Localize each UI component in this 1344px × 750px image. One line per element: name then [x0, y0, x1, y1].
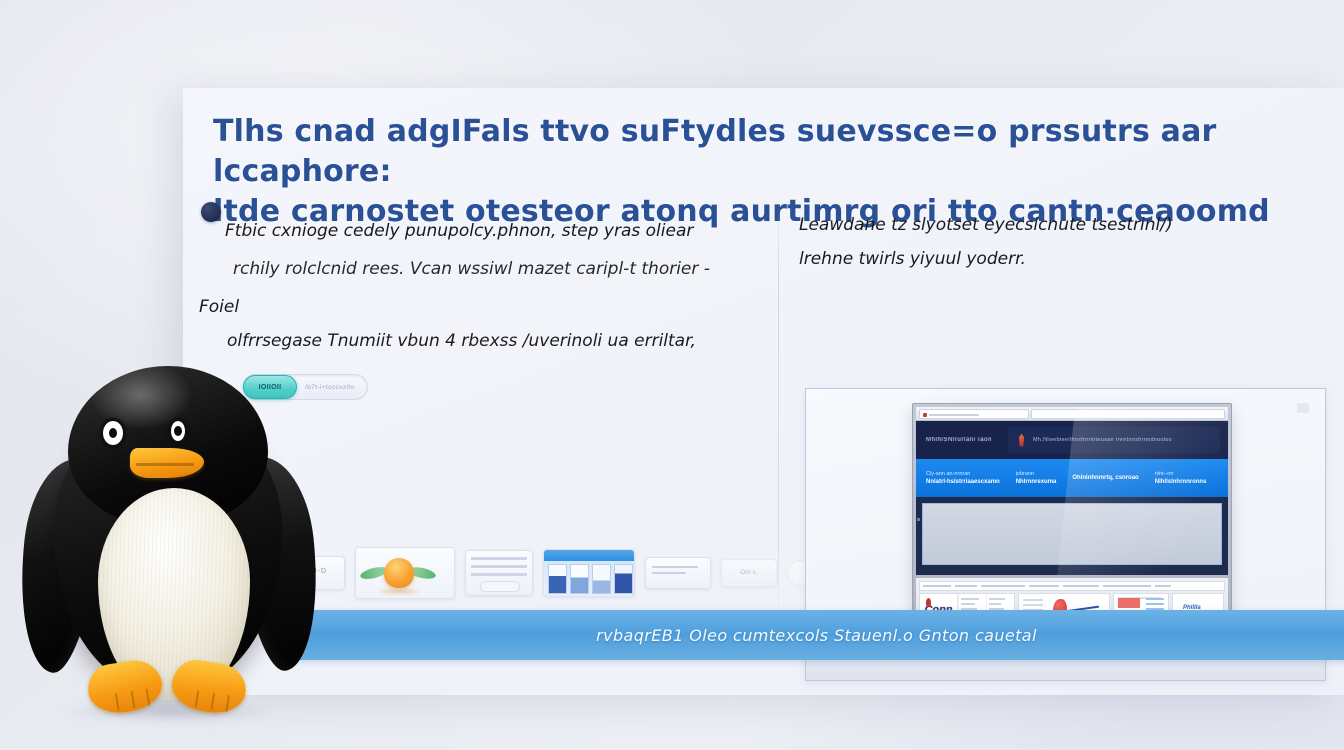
left-paragraph-line-2: rchily rolclcnid rees. Vcan wssiwl mazet…	[215, 250, 771, 288]
card-pill-shape	[480, 581, 520, 592]
card-thumb-faint[interactable]: Оm x,	[721, 559, 777, 587]
corner-marker-icon	[1297, 403, 1309, 413]
card-thumb-blank[interactable]	[645, 557, 711, 589]
nav-item-3[interactable]: Ohlnlnhnmrtq, csnroao	[1072, 474, 1138, 482]
browser-tab-2[interactable]	[1031, 409, 1225, 419]
left-paragraph: Ftbic cxnioge cedely punupolcy.phnon, st…	[215, 212, 771, 326]
bottom-banner: rvbaqrEB1 Oleo cumtexcols Stauenl.o Gnto…	[283, 610, 1344, 660]
tux-penguin-mascot	[20, 360, 320, 730]
left-paragraph-line-1: Ftbic cxnioge cedely punupolcy.phnon, st…	[215, 212, 771, 250]
site-header: MhlhlSNlrurlani Iaon Mh,Nlwebteeilhnsfrn…	[916, 421, 1228, 459]
right-paragraph-line-2: lrehne twirls yiyuul yodеrr.	[799, 242, 1319, 276]
alert-icon	[1016, 434, 1027, 447]
card-lines-strip	[471, 557, 527, 581]
headline-line-1: Tlhs cnad adgIFals ttvo suFtydles suevss…	[213, 114, 1217, 189]
content-heading-bar	[923, 518, 1221, 521]
right-column: Leawdane tz slyotset eyecsicnute tsestri…	[795, 196, 1335, 626]
nav-item-2[interactable]: jobrann Nhlrnnrexuma	[1016, 470, 1057, 486]
favicon-icon	[923, 413, 927, 417]
slide-panel: Tlhs cnad adgIFals ttvo suFtydles suevss…	[183, 88, 1344, 695]
left-paragraph-2: olfrrsegase Tnumiit vbun 4 rbexss /uveri…	[227, 328, 783, 354]
browser-tab-bar[interactable]	[916, 407, 1228, 421]
site-alert-text: Mh,Nlwebteeilhnsfrnrloteusan rnretnnshrn…	[1033, 437, 1172, 443]
bottom-banner-text: rvbaqrEB1 Oleo cumtexcols Stauenl.o Gnto…	[596, 626, 1037, 645]
browser-tab-1[interactable]	[919, 409, 1029, 419]
site-nav-band[interactable]: Cly-ann an-nrnran Nnlatrl-hslstrriaaescx…	[916, 459, 1228, 497]
flower-icon	[384, 558, 414, 588]
card-thumb-flower[interactable]	[355, 547, 455, 599]
monitor-graphic: MhlhlSNlrurlani Iaon Mh,Nlwebteeilhnsfrn…	[912, 403, 1232, 631]
right-paragraph: Leawdane tz slyotset eyecsicnute tsestri…	[799, 208, 1319, 276]
site-brand: MhlhlSNlrurlani Iaon	[916, 437, 1008, 443]
card-thumb-lines[interactable]	[465, 550, 533, 596]
mini-thumbnail-grid	[548, 564, 633, 594]
monitor-screen: MhlhlSNlrurlani Iaon Mh,Nlwebteeilhnsfrn…	[916, 407, 1228, 575]
right-paragraph-line-1: Leawdane tz slyotset eyecsicnute tsestri…	[799, 208, 1319, 242]
red-chart-block	[1118, 598, 1140, 608]
toolbar-strip[interactable]	[919, 581, 1225, 591]
penguin-eye-right	[168, 418, 188, 444]
site-alert-banner: Mh,Nlwebteeilhnsfrnrloteusan rnretnnshrn…	[1008, 427, 1220, 453]
penguin-eye-left	[100, 418, 126, 448]
card-thumb-faint-text: Оm x,	[722, 569, 776, 576]
card-blank-lines	[652, 566, 704, 578]
nav-item-1[interactable]: Cly-ann an-nrnran Nnlatrl-hslstrriaaescx…	[926, 470, 1000, 486]
site-content-pane	[922, 503, 1222, 565]
left-paragraph-line-3: Foiel	[215, 288, 771, 326]
nav-item-4[interactable]: nlnt--nn Nlhllslnhrnnronns	[1155, 470, 1207, 486]
card-thumb-grid[interactable]	[543, 549, 635, 597]
flower-shadow	[380, 589, 418, 594]
card-grid-header	[544, 550, 634, 561]
